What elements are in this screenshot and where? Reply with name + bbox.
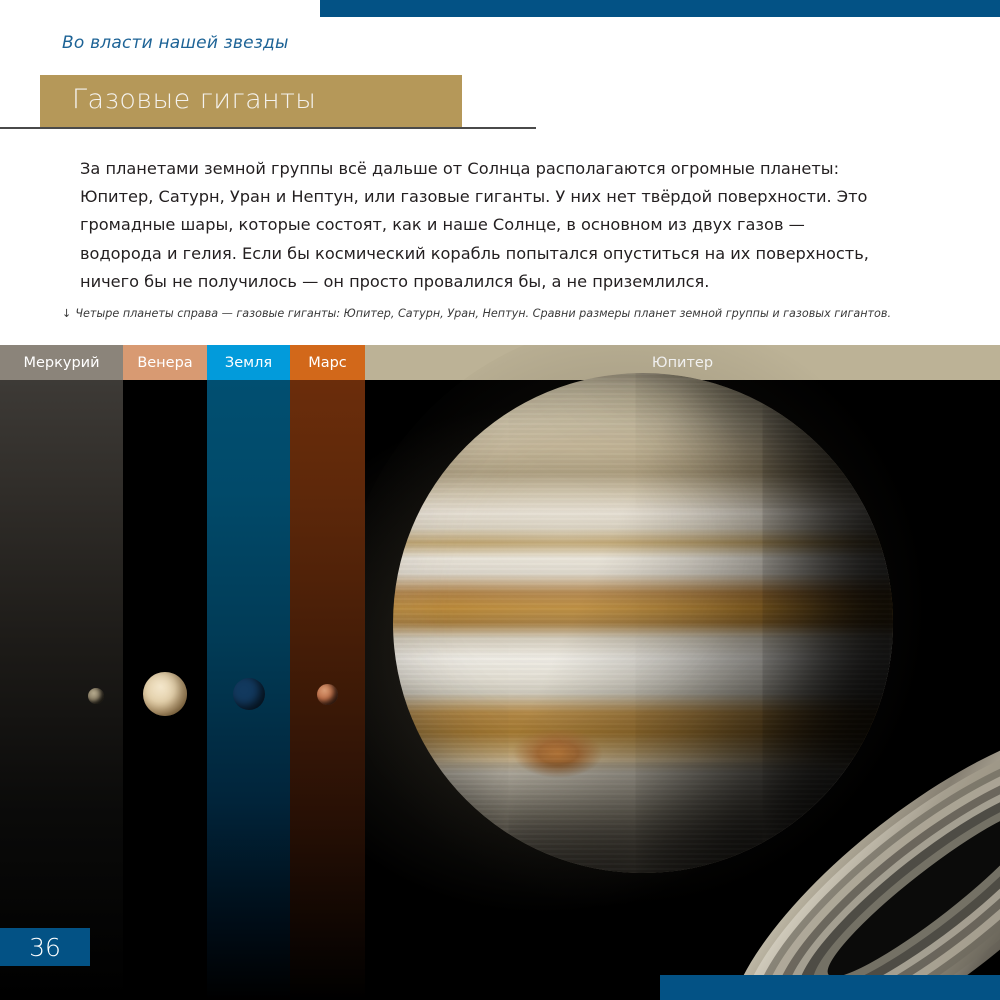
figure-caption-text: Четыре планеты справа — газовые гиганты:… bbox=[75, 307, 891, 320]
planet-size-comparison-figure: Меркурий Венера Земля Марс Юпитер bbox=[0, 345, 1000, 1000]
down-arrow-icon: ↓ bbox=[62, 307, 71, 320]
planet-venus bbox=[143, 672, 187, 716]
label-text: Меркурий bbox=[23, 355, 99, 371]
planet-label-mars: Марс bbox=[290, 345, 365, 380]
body-copy: За планетами земной группы всё дальше от… bbox=[80, 155, 880, 296]
title-underline-rule bbox=[0, 127, 536, 129]
label-text: Земля bbox=[225, 355, 272, 371]
planet-earth bbox=[233, 678, 265, 710]
body-paragraph: За планетами земной группы всё дальше от… bbox=[80, 155, 880, 296]
top-accent-bar bbox=[320, 0, 1000, 17]
planet-mars bbox=[317, 684, 338, 705]
planet-label-mercury: Меркурий bbox=[0, 345, 123, 380]
planet-label-venus: Венера bbox=[123, 345, 207, 380]
column-earth bbox=[207, 380, 290, 1000]
page-title: Газовые гиганты bbox=[72, 84, 316, 115]
book-page: Во власти нашей звезды Газовые гиганты З… bbox=[0, 0, 1000, 1000]
page-number-text: 36 bbox=[29, 933, 61, 962]
label-text: Венера bbox=[137, 355, 192, 371]
planet-mercury bbox=[88, 688, 104, 704]
bottom-accent-bar bbox=[660, 975, 1000, 1000]
label-text: Марс bbox=[308, 355, 347, 371]
column-venus bbox=[123, 380, 207, 1000]
column-mercury bbox=[0, 380, 123, 1000]
column-mars bbox=[290, 380, 365, 1000]
figure-caption: ↓Четыре планеты справа — газовые гиганты… bbox=[62, 307, 962, 320]
jupiter-container bbox=[365, 345, 1000, 965]
page-number: 36 bbox=[0, 928, 90, 966]
running-head: Во власти нашей звезды bbox=[62, 33, 289, 53]
planet-jupiter bbox=[393, 373, 893, 873]
planet-label-earth: Земля bbox=[207, 345, 290, 380]
